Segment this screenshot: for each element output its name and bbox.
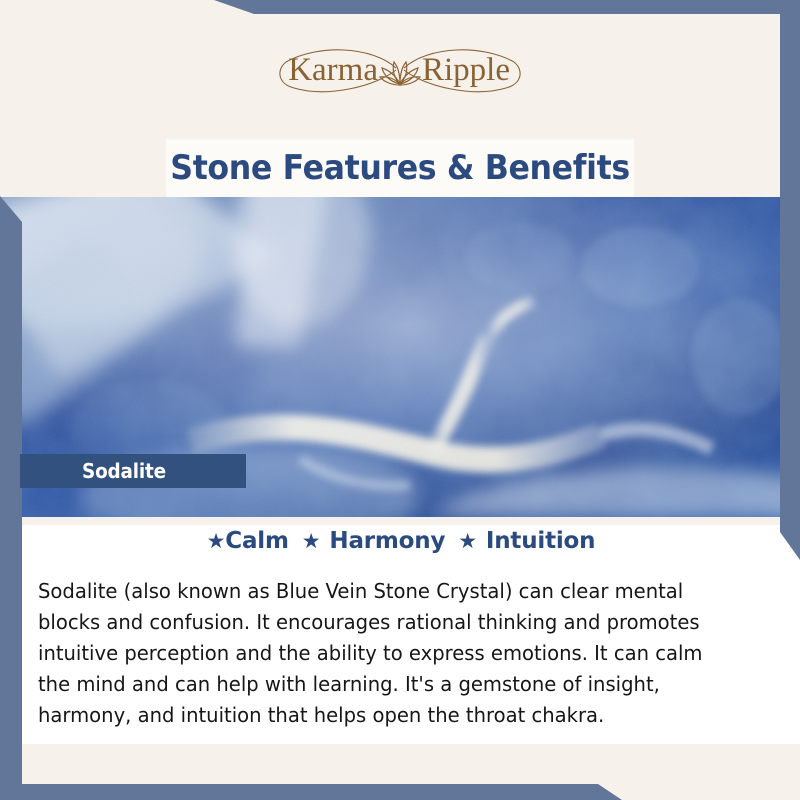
stone-description: Sodalite (also known as Blue Vein Stone … <box>38 576 726 731</box>
poster-canvas: Karma Ripple <box>0 0 800 800</box>
page-title: Stone Features & Benefits <box>170 148 629 188</box>
brand-logo: Karma Ripple <box>0 40 800 102</box>
stone-name-label: Sodalite <box>20 454 246 488</box>
title-banner: Stone Features & Benefits <box>166 139 634 197</box>
lotus-icon <box>380 62 420 85</box>
stone-name-text: Sodalite <box>82 459 166 483</box>
content-panel: ★Calm★Harmony★Intuition Sodalite (also k… <box>0 517 800 744</box>
brand-word-right: Ripple <box>422 52 510 88</box>
keyword-harmony: Harmony <box>329 528 445 554</box>
accent-shape-left-edge <box>0 196 22 782</box>
brand-logo-artwork: Karma Ripple <box>250 40 550 102</box>
keyword-calm: Calm <box>225 528 288 554</box>
star-icon: ★ <box>302 529 321 553</box>
keyword-intuition: Intuition <box>486 528 595 554</box>
photo-seam <box>22 517 780 525</box>
star-icon: ★ <box>458 529 477 553</box>
brand-word-left: Karma <box>288 52 378 88</box>
star-icon: ★ <box>207 529 226 553</box>
